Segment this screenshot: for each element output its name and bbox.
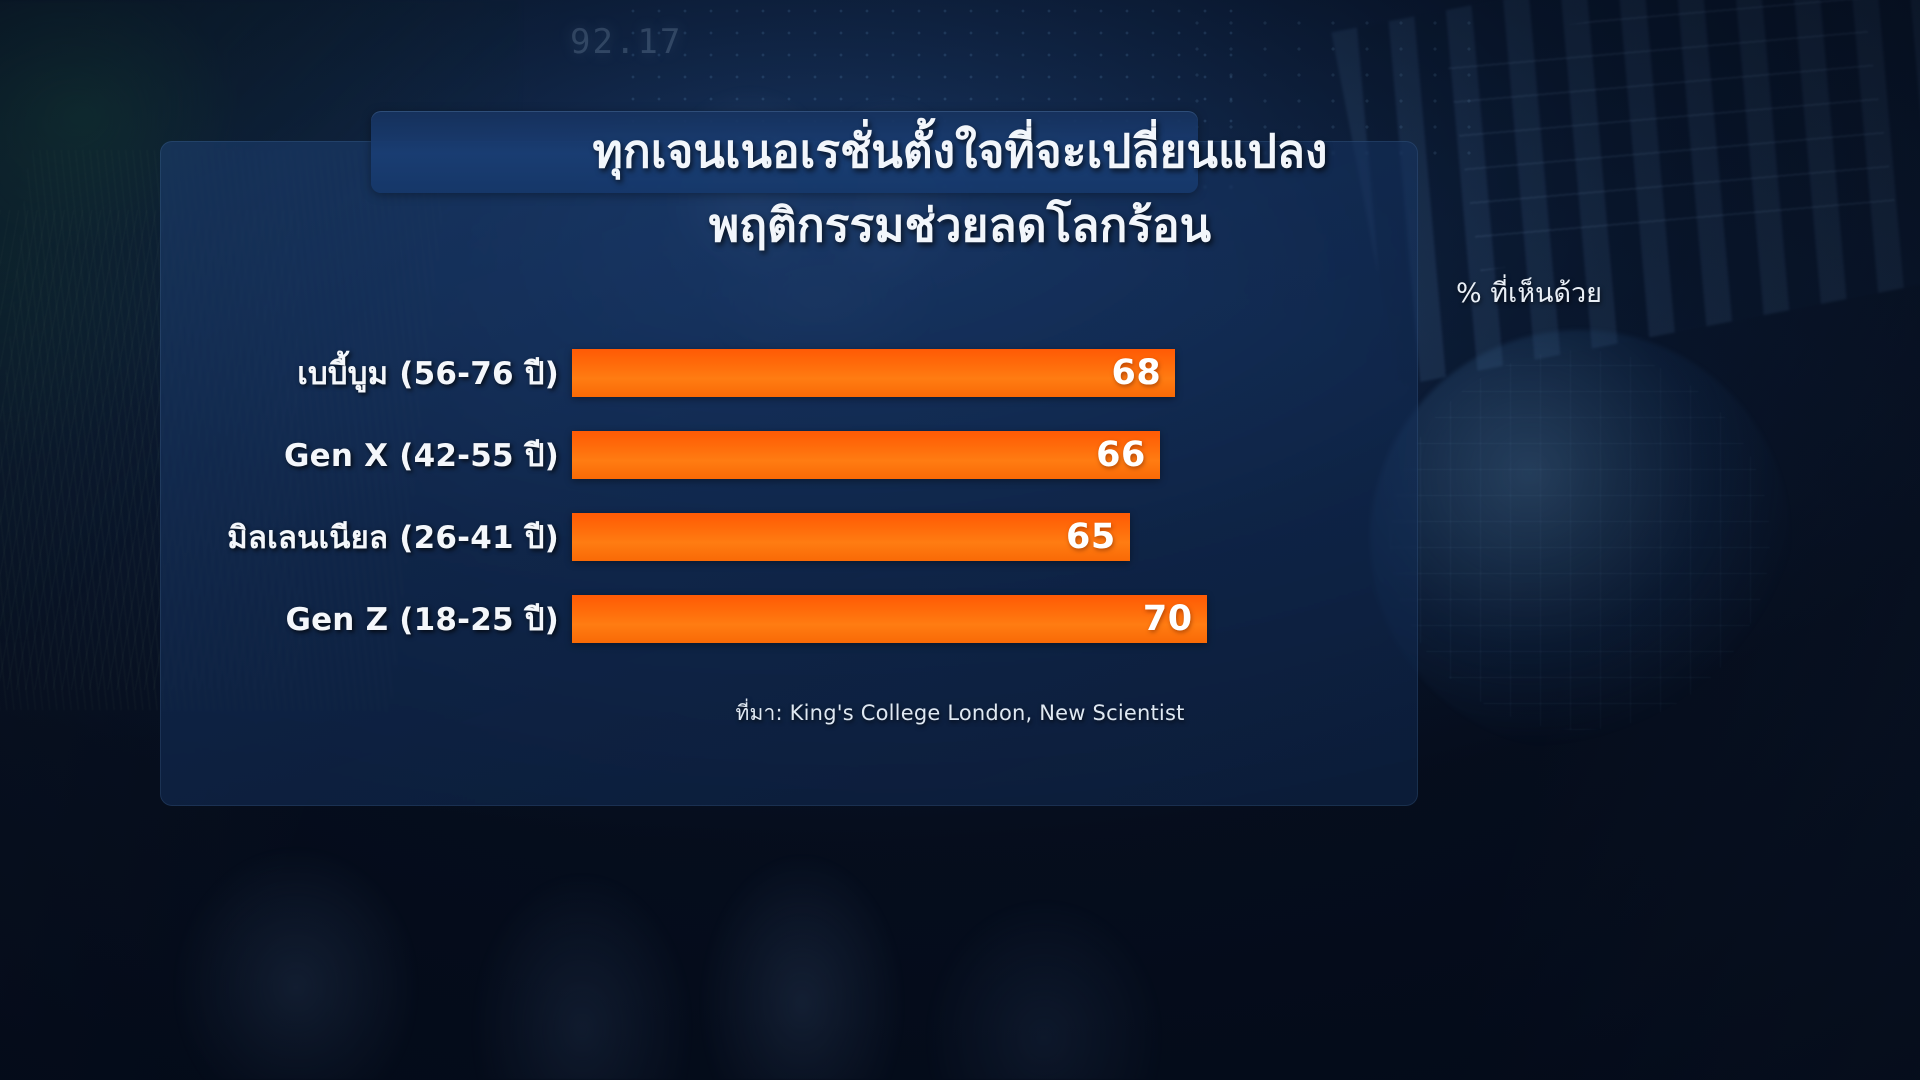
chart-row: มิลเลนเนียล (26-41 ปี) 65	[180, 513, 1240, 561]
chart-row: Gen X (42-55 ปี) 66	[180, 431, 1240, 479]
source-attribution: ที่มา: King's College London, New Scient…	[0, 697, 1920, 730]
page-title-line-1: ทุกเจนเนอเรชั่นตั้งใจที่จะเปลี่ยนแปลง	[0, 128, 1920, 174]
chart-row: Gen Z (18-25 ปี) 70	[180, 595, 1240, 643]
bar-fill: 65	[572, 513, 1130, 561]
bar-value-label: 68	[1111, 356, 1175, 391]
bar-fill: 68	[572, 349, 1175, 397]
bar-category-label: Gen Z (18-25 ปี)	[180, 594, 572, 644]
bar-value-label: 66	[1096, 438, 1160, 473]
bar-chart: เบบี้บูม (56-76 ปี) 68 Gen X (42-55 ปี) …	[180, 343, 1240, 653]
bar-track: 65	[572, 513, 1240, 561]
chart-row: เบบี้บูม (56-76 ปี) 68	[180, 349, 1240, 397]
bar-fill: 70	[572, 595, 1207, 643]
axis-caption: % ที่เห็นด้วย	[1456, 271, 1602, 314]
bar-fill: 66	[572, 431, 1160, 479]
bar-value-label: 70	[1143, 602, 1207, 637]
page-title-line-2: พฤติกรรมช่วยลดโลกร้อน	[0, 202, 1920, 248]
bar-track: 70	[572, 595, 1240, 643]
bar-category-label: Gen X (42-55 ปี)	[180, 430, 572, 480]
bar-category-label: มิลเลนเนียล (26-41 ปี)	[180, 512, 572, 562]
bar-category-label: เบบี้บูม (56-76 ปี)	[180, 348, 572, 398]
bar-track: 68	[572, 349, 1240, 397]
bar-value-label: 65	[1066, 520, 1130, 555]
bar-track: 66	[572, 431, 1240, 479]
